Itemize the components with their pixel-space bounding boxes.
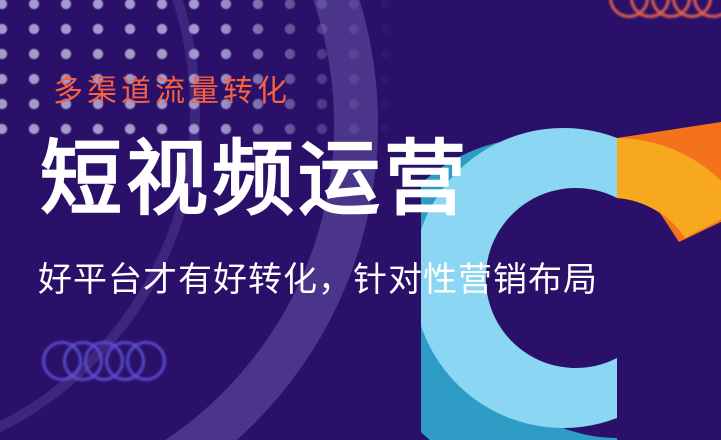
ring-icon [105, 341, 145, 381]
ring-icon [126, 341, 166, 381]
page-title: 短视频运营 [40, 134, 470, 226]
poster-canvas: 多渠道流量转化 短视频运营 好平台才有好转化，针对性营销布局 [0, 0, 721, 440]
ring-icon [42, 341, 82, 381]
ring-icon [63, 341, 103, 381]
tagline-text: 好平台才有好转化，针对性营销布局 [38, 260, 598, 302]
eyebrow-text: 多渠道流量转化 [53, 66, 291, 110]
ring-icon [84, 341, 124, 381]
